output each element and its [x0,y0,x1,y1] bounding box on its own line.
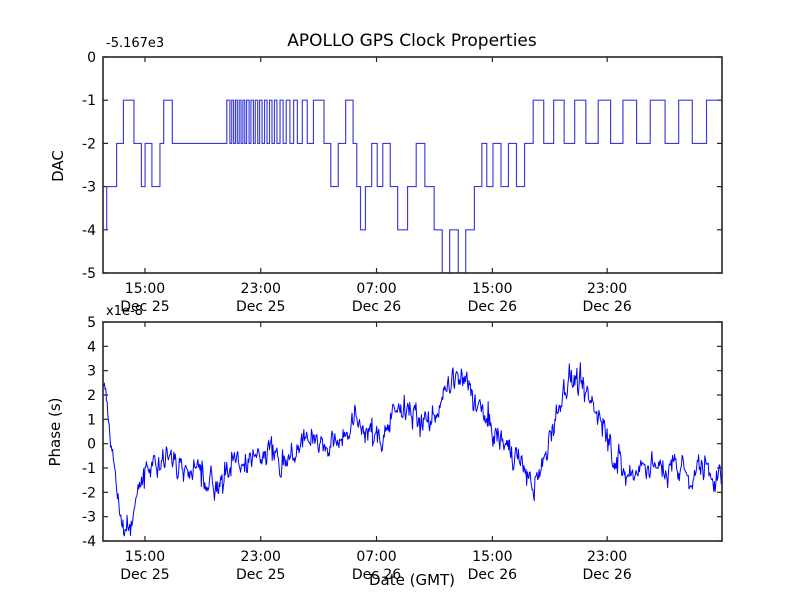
phase-y-tick-label: -2 [82,485,96,501]
dac-y-tick-label: -1 [82,93,96,109]
dac-y-tick-label: -3 [82,180,96,196]
chart-title: APOLLO GPS Clock Properties [287,31,537,51]
phase-y-offset-label: x1e-8 [106,304,143,319]
phase-x-tick-label-time: 07:00 [356,549,396,565]
dac-axes-frame [103,57,722,273]
phase-y-tick-label: 4 [87,339,96,355]
dac-x-tick-label-date: Dec 26 [468,299,517,315]
phase-x-tick-group: 15:00Dec 2523:00Dec 2507:00Dec 2615:00De… [120,322,632,583]
phase-y-tick-label: 1 [87,412,96,428]
dac-x-tick-label-time: 23:00 [587,281,627,297]
phase-y-tick-label: 5 [87,315,96,331]
dac-y-axis-label: DAC [49,150,67,182]
phase-x-tick-label-time: 23:00 [587,549,627,565]
phase-x-tick-label-date: Dec 26 [468,567,517,583]
phase-axes-frame [103,322,722,541]
phase-x-tick-label-date: Dec 26 [582,567,631,583]
figure-canvas: APOLLO GPS Clock Properties -5.167e3 DAC… [0,0,800,600]
phase-y-tick-label: 2 [87,388,96,404]
dac-y-tick-group: 0-1-2-3-4-5 [82,50,722,282]
dac-x-tick-label-time: 23:00 [241,281,281,297]
phase-x-tick-label-date: Dec 25 [236,567,285,583]
dac-x-tick-label-date: Dec 25 [236,299,285,315]
apollo-gps-chart: APOLLO GPS Clock Properties -5.167e3 DAC… [0,0,800,600]
phase-y-tick-group: 543210-1-2-3-4 [82,315,722,550]
phase-x-tick-label-time: 15:00 [472,549,512,565]
phase-x-tick-label-time: 23:00 [241,549,281,565]
dac-x-tick-label-time: 07:00 [356,281,396,297]
phase-panel: x1e-8 Phase (s) Date (GMT) 543210-1-2-3-… [46,304,722,589]
phase-y-axis-label: Phase (s) [46,397,64,466]
dac-y-tick-label: 0 [87,50,96,66]
dac-x-tick-label-date: Dec 26 [582,299,631,315]
dac-y-tick-label: -2 [82,136,96,152]
dac-y-offset-label: -5.167e3 [106,36,164,51]
dac-data-line [103,100,722,273]
phase-y-tick-label: 0 [87,437,96,453]
phase-x-tick-label-time: 15:00 [125,549,165,565]
dac-x-tick-label-time: 15:00 [472,281,512,297]
phase-x-tick-label-date: Dec 26 [352,567,401,583]
dac-y-tick-label: -5 [82,266,96,282]
dac-x-tick-group: 15:00Dec 2523:00Dec 2507:00Dec 2615:00De… [120,57,632,315]
phase-data-line [103,363,722,536]
dac-x-tick-label-time: 15:00 [125,281,165,297]
dac-panel: -5.167e3 DAC 0-1-2-3-4-5 15:00Dec 2523:0… [49,36,722,315]
phase-y-tick-label: 3 [87,364,96,380]
phase-x-tick-label-date: Dec 25 [120,567,169,583]
phase-y-tick-label: -3 [82,510,96,526]
dac-y-tick-label: -4 [82,223,96,239]
dac-x-tick-label-date: Dec 26 [352,299,401,315]
phase-y-tick-label: -1 [82,461,96,477]
phase-y-tick-label: -4 [82,534,96,550]
